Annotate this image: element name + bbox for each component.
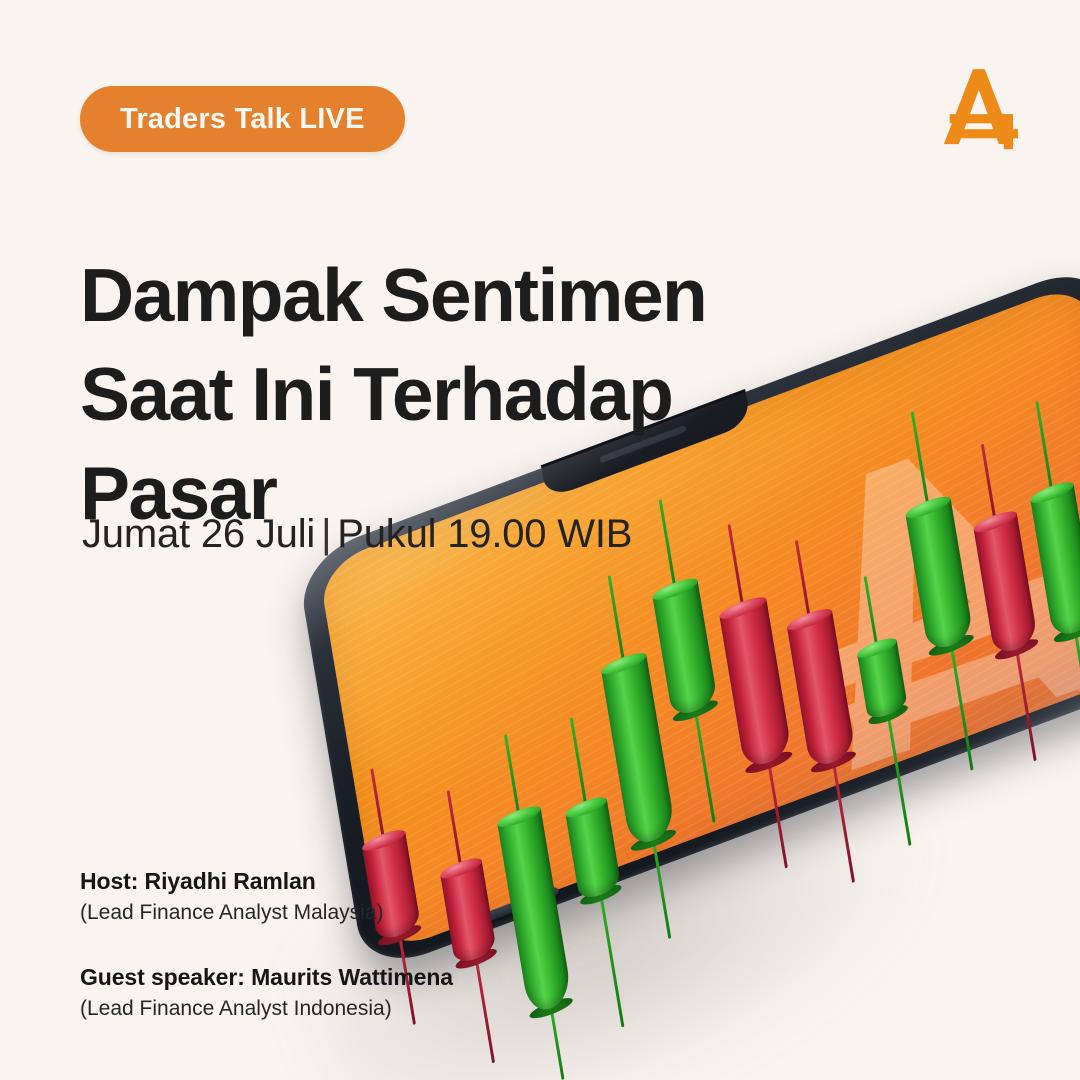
datetime-separator: | (315, 512, 337, 557)
host-name: Host: Riyadhi Ramlan (80, 866, 550, 896)
guest-role: (Lead Finance Analyst Indonesia) (80, 994, 550, 1024)
event-date: Jumat 26 Juli (82, 512, 315, 556)
brand-logo-icon (928, 62, 1028, 158)
guest-name: Guest speaker: Maurits Wattimena (80, 962, 550, 992)
host-role: (Lead Finance Analyst Malaysia) (80, 898, 550, 928)
event-time: Pukul 19.00 WIB (337, 512, 632, 556)
candle-wick-lower (548, 1000, 564, 1080)
page-title: Dampak Sentimen Saat Ini Terhadap Pasar (80, 246, 840, 543)
host-block: Host: Riyadhi Ramlan (Lead Finance Analy… (80, 866, 550, 928)
poster-canvas: Traders Talk LIVE Dampak Sentimen Saat I… (0, 0, 1080, 1080)
event-datetime: Jumat 26 Juli|Pukul 19.00 WIB (82, 512, 632, 557)
guest-block: Guest speaker: Maurits Wattimena (Lead F… (80, 962, 550, 1024)
live-badge[interactable]: Traders Talk LIVE (80, 86, 405, 152)
live-badge-label: Traders Talk LIVE (120, 103, 365, 136)
speakers-block: Host: Riyadhi Ramlan (Lead Finance Analy… (80, 866, 550, 1024)
headline-line-2: Saat Ini Terhadap (80, 345, 840, 444)
candle-wick-lower (598, 887, 624, 1028)
headline-line-1: Dampak Sentimen (80, 246, 840, 345)
